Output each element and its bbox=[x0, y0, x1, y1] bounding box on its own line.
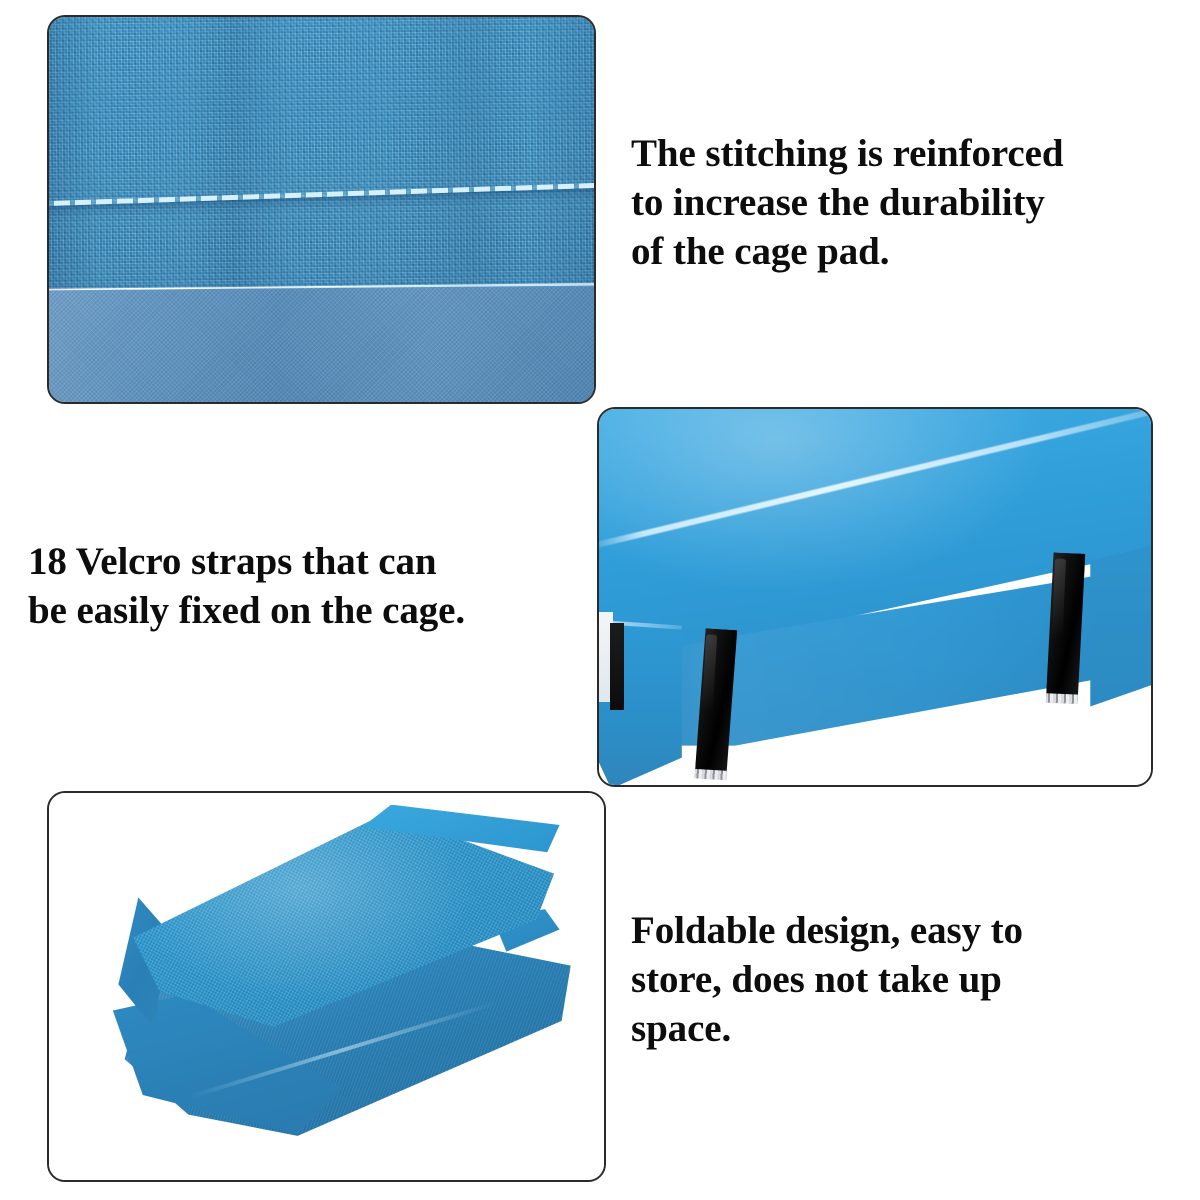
caption-line: of the cage pad. bbox=[631, 227, 1187, 276]
caption-line: be easily fixed on the cage. bbox=[28, 586, 588, 635]
stitching-closeup-photo bbox=[47, 15, 596, 404]
fabric-scene bbox=[49, 17, 594, 402]
caption-line: to increase the durability bbox=[631, 178, 1187, 227]
mat-corner-scene bbox=[599, 409, 1151, 785]
mat-right-band bbox=[1090, 544, 1153, 709]
caption-line: Foldable design, easy to bbox=[631, 906, 1187, 955]
caption-stitching: The stitching is reinforced to increase … bbox=[631, 129, 1187, 276]
caption-velcro-straps: 18 Velcro straps that can be easily fixe… bbox=[28, 537, 588, 635]
folded-mat-scene bbox=[49, 793, 604, 1180]
caption-line: store, does not take up bbox=[631, 955, 1187, 1004]
infographic-canvas: The stitching is reinforced to increase … bbox=[0, 0, 1200, 1200]
caption-line: space. bbox=[631, 1004, 1187, 1053]
caption-line: 18 Velcro straps that can bbox=[28, 537, 588, 586]
strap-hook-tip bbox=[693, 769, 730, 782]
folded-mat-photo bbox=[47, 791, 606, 1182]
velcro-strap-partial bbox=[610, 623, 624, 709]
caption-line: The stitching is reinforced bbox=[631, 129, 1187, 178]
fabric-lower-shading bbox=[49, 287, 594, 405]
strap-highlight bbox=[1051, 558, 1066, 637]
velcro-straps-photo bbox=[597, 407, 1153, 787]
fabric-upper-shading bbox=[49, 17, 594, 294]
caption-foldable-design: Foldable design, easy to store, does not… bbox=[631, 906, 1187, 1053]
strap-hook-tip bbox=[1044, 693, 1080, 706]
